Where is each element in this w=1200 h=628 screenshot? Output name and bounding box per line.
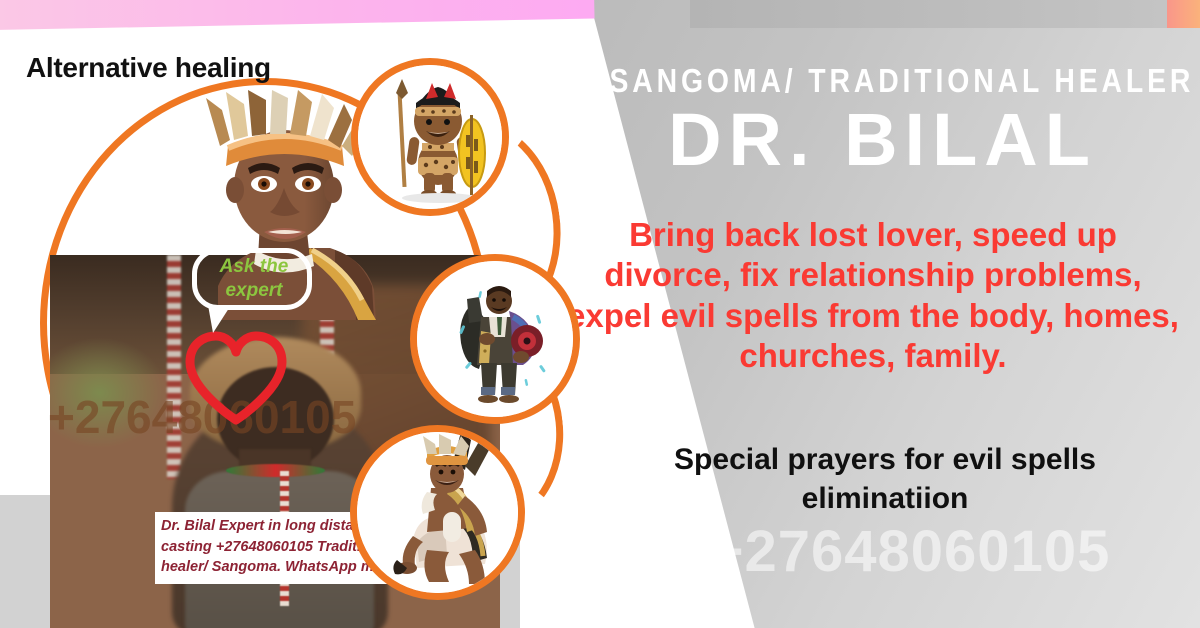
heart-outline-icon xyxy=(182,330,290,426)
crouching-warrior-icon xyxy=(350,425,525,600)
right-panel-content: SANGOMA/ TRADITIONAL HEALER DR. BILAL Br… xyxy=(535,0,1200,628)
zulu-warrior-cartoon-icon xyxy=(351,58,509,216)
healer-name: DR. BILAL xyxy=(565,103,1200,177)
phone-watermark: +27648060105 xyxy=(610,518,1200,585)
services-text: Bring back lost lover, speed up divorce,… xyxy=(563,215,1183,376)
sangoma-diviner-figure-icon xyxy=(410,254,580,424)
kicker-heading: SANGOMA/ TRADITIONAL HEALER xyxy=(609,62,1155,100)
speech-bubble-tail xyxy=(208,305,231,333)
speech-bubble-label: Ask the expert xyxy=(200,255,308,303)
top-pink-bar xyxy=(0,0,595,30)
special-prayers-text: Special prayers for evil spells eliminat… xyxy=(595,440,1175,518)
page-title: Alternative healing xyxy=(26,52,271,84)
poster-canvas: Alternative healing xyxy=(0,0,1200,628)
